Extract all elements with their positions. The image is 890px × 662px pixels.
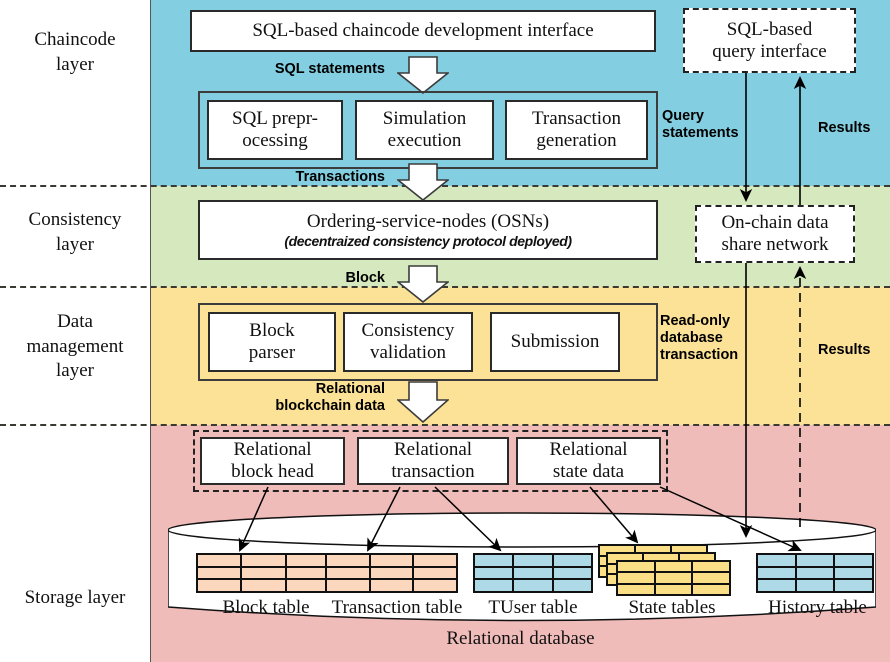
label-relational-blockchain-data-line2: blockchain data (215, 398, 385, 415)
label-readonly-line3: transaction (660, 347, 770, 364)
sql-chaincode-development-interface-label: SQL-based chaincode development interfac… (252, 20, 593, 42)
relational-block-head-line2: block head (231, 461, 314, 483)
layer-label-data-management: Data management layer (0, 310, 150, 384)
layer-label-storage: Storage layer (0, 586, 150, 611)
label-results-data-management: Results (818, 342, 888, 359)
label-block: Block (255, 270, 385, 287)
label-query-statements: Query statements (662, 108, 762, 142)
table-label-history-table: History table (750, 597, 885, 619)
relational-database-caption: Relational database (151, 628, 890, 650)
module-consistency-validation-line1: Consistency (362, 320, 455, 342)
table-block-table[interactable] (196, 553, 331, 593)
block-arrow-block (397, 265, 449, 303)
sql-chaincode-development-interface-box[interactable]: SQL-based chaincode development interfac… (190, 10, 656, 52)
module-block-parser-line2: parser (249, 342, 295, 364)
layer-label-chaincode-line1: Chaincode (0, 28, 150, 53)
band-left-border (150, 0, 151, 662)
table-history-table[interactable] (756, 553, 874, 593)
sql-query-interface-line2: query interface (712, 41, 826, 63)
module-simulation-execution[interactable]: Simulation execution (355, 100, 494, 160)
module-block-parser[interactable]: Block parser (208, 312, 336, 372)
label-query-statements-line2: statements (662, 125, 762, 142)
on-chain-data-share-network-box[interactable]: On-chain data share network (695, 205, 855, 263)
relational-transaction-line1: Relational (394, 439, 472, 461)
layer-label-data-management-line3: layer (0, 359, 150, 384)
relational-transaction-line2: transaction (391, 461, 474, 483)
table-state-tables-front[interactable] (616, 560, 731, 596)
module-simulation-execution-line2: execution (388, 130, 462, 152)
relational-state-data-line1: Relational (549, 439, 627, 461)
module-transaction-generation-line2: generation (536, 130, 616, 152)
table-label-transaction-table: Transaction table (312, 597, 482, 619)
label-transactions: Transactions (235, 169, 385, 186)
module-block-parser-line1: Block (249, 320, 294, 342)
block-arrow-transactions (397, 163, 449, 201)
on-chain-share-line2: share network (721, 234, 828, 256)
module-submission[interactable]: Submission (490, 312, 620, 372)
relational-state-data-line2: state data (553, 461, 624, 483)
label-sql-statements: SQL statements (230, 61, 385, 78)
block-arrow-relational-blockchain-data (397, 381, 449, 423)
layer-label-chaincode: Chaincode layer (0, 28, 150, 77)
module-submission-line1: Submission (511, 331, 600, 353)
layer-label-consistency: Consistency layer (0, 208, 150, 257)
ordering-service-nodes-box[interactable]: Ordering-service-nodes (OSNs) (decentrai… (198, 200, 658, 260)
layer-label-consistency-line1: Consistency (0, 208, 150, 233)
label-relational-blockchain-data: Relational blockchain data (215, 381, 385, 415)
sql-query-interface-line1: SQL-based (727, 19, 812, 41)
on-chain-share-line1: On-chain data (721, 212, 828, 234)
module-sql-preprocessing-line1: SQL prepr- (232, 108, 318, 130)
layer-label-consistency-line2: layer (0, 233, 150, 258)
ordering-service-nodes-title: Ordering-service-nodes (OSNs) (307, 211, 549, 233)
block-arrow-sql-statements (397, 56, 449, 94)
module-consistency-validation-line2: validation (370, 342, 446, 364)
layer-label-chaincode-line2: layer (0, 53, 150, 78)
table-transaction-table[interactable] (325, 553, 458, 593)
label-relational-blockchain-data-line1: Relational (215, 381, 385, 398)
table-tuser-table[interactable] (473, 553, 593, 593)
table-label-tuser-table: TUser table (468, 597, 598, 619)
relational-transaction-box[interactable]: Relational transaction (357, 437, 509, 485)
relational-block-head-box[interactable]: Relational block head (200, 437, 345, 485)
module-consistency-validation[interactable]: Consistency validation (343, 312, 473, 372)
layer-separator-3 (0, 424, 890, 426)
label-results-chaincode: Results (818, 120, 888, 137)
module-sql-preprocessing-line2: ocessing (242, 130, 307, 152)
label-readonly-database-transaction: Read-only database transaction (660, 313, 770, 364)
module-transaction-generation[interactable]: Transaction generation (505, 100, 648, 160)
sql-query-interface-box[interactable]: SQL-based query interface (683, 8, 856, 73)
architecture-diagram: Chaincode layer Consistency layer Data m… (0, 0, 890, 662)
table-label-state-tables: State tables (607, 597, 737, 619)
module-transaction-generation-line1: Transaction (532, 108, 621, 130)
label-readonly-line1: Read-only (660, 313, 770, 330)
label-readonly-line2: database (660, 330, 770, 347)
relational-block-head-line1: Relational (233, 439, 311, 461)
layer-label-data-management-line2: management (0, 335, 150, 360)
layer-label-storage-line1: Storage layer (0, 586, 150, 611)
ordering-service-nodes-subtitle: (decentraized consistency protocol deplo… (284, 233, 571, 249)
module-sql-preprocessing[interactable]: SQL prepr- ocessing (207, 100, 343, 160)
module-simulation-execution-line1: Simulation (383, 108, 466, 130)
relational-state-data-box[interactable]: Relational state data (516, 437, 661, 485)
label-query-statements-line1: Query (662, 108, 762, 125)
layer-label-data-management-line1: Data (0, 310, 150, 335)
